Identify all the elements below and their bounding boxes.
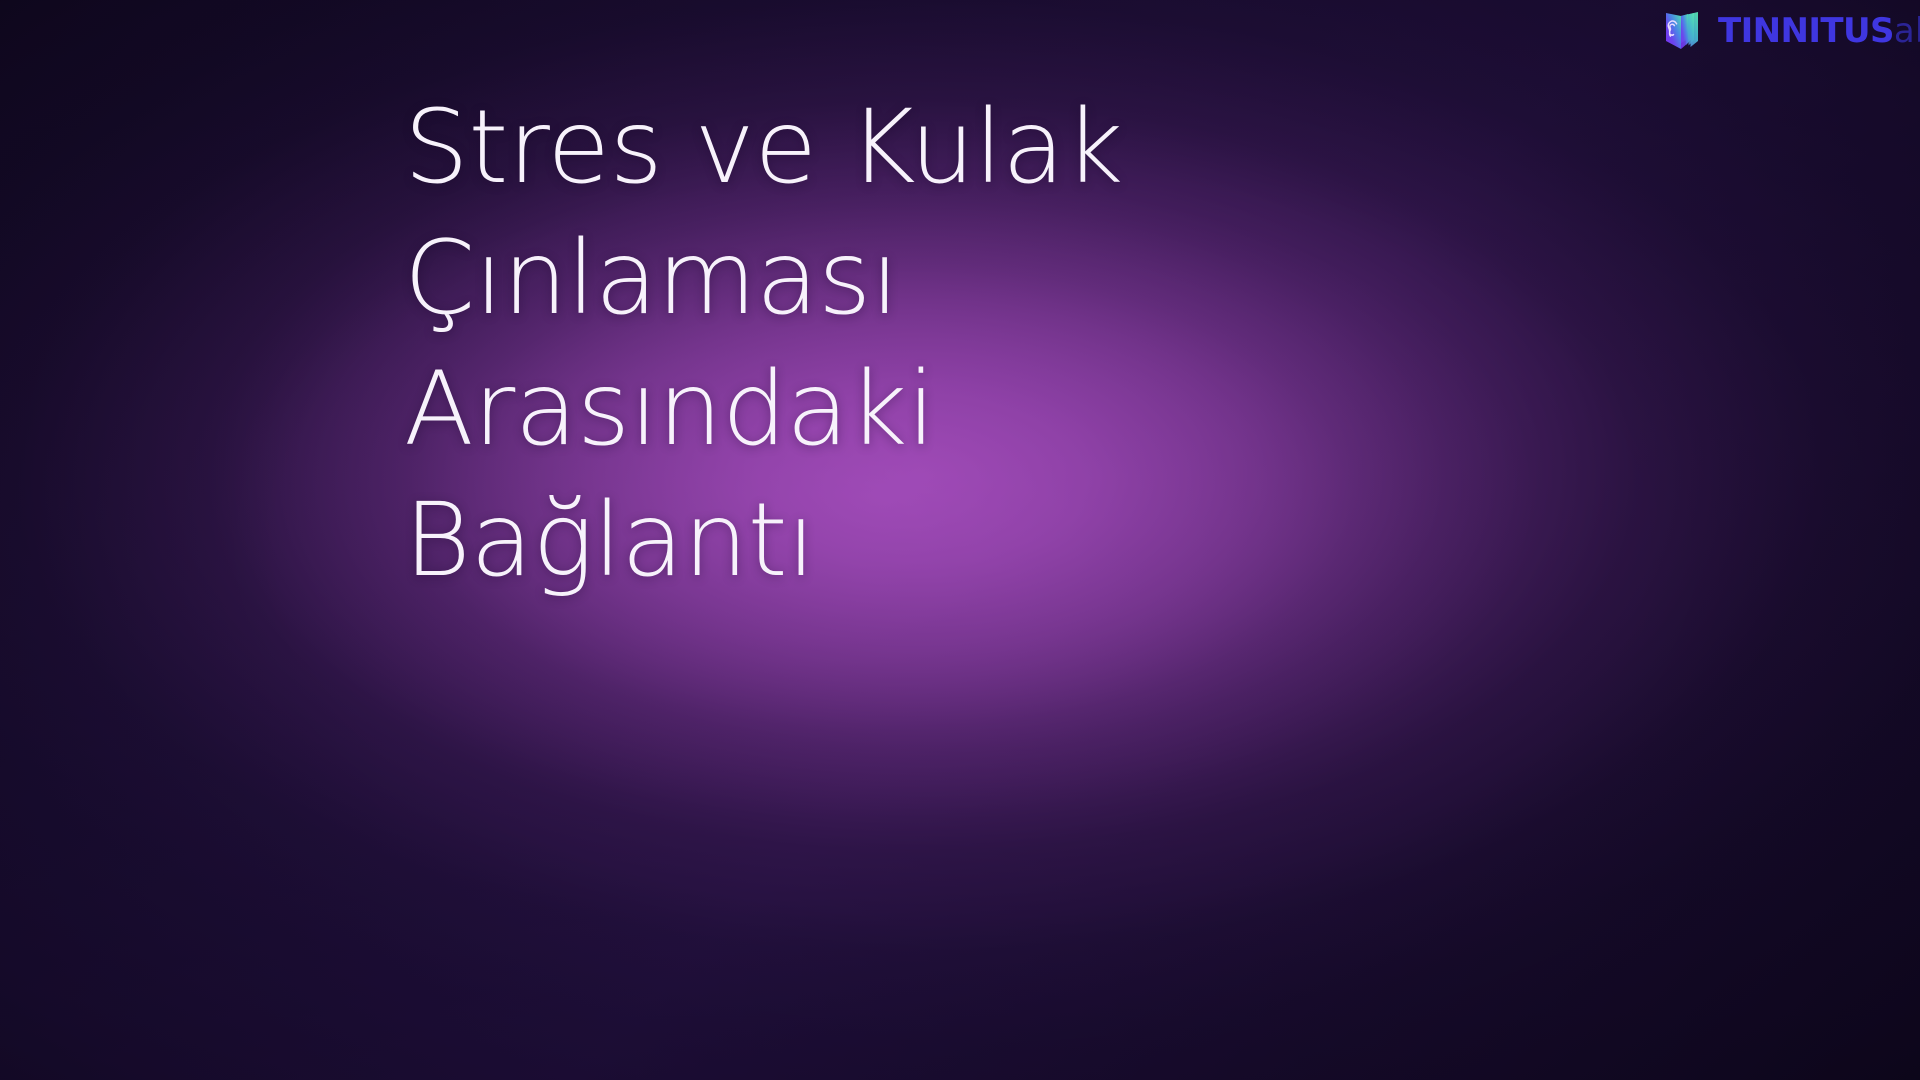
brand-logo[interactable]: TINNITUSabc [1657,3,1920,59]
title-line-1: Stres ve Kulak [404,82,1424,213]
brand-name-light: abc [1894,11,1920,51]
slide-title: Stres ve Kulak Çınlaması Arasındaki Bağl… [404,82,1424,606]
title-line-4: Bağlantı [404,475,1424,606]
brand-name-bold: TINNITUS [1718,11,1894,51]
book-ear-icon [1657,7,1705,55]
brand-wordmark: TINNITUSabc [1718,14,1920,48]
title-line-2: Çınlaması [404,213,1424,344]
presentation-slide: Stres ve Kulak Çınlaması Arasındaki Bağl… [0,0,1920,1080]
title-line-3: Arasındaki [404,344,1424,475]
